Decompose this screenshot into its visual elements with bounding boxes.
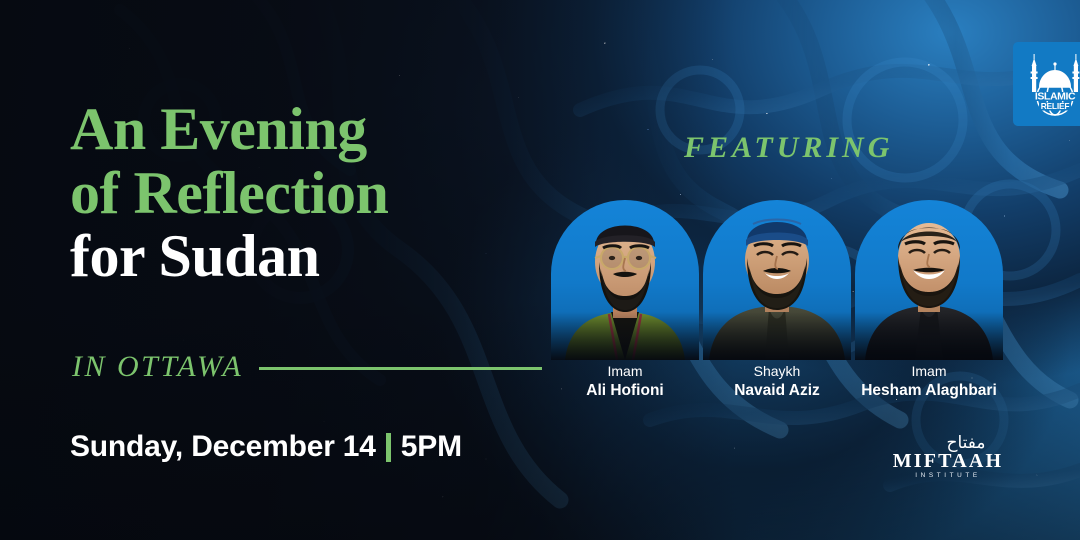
headline-line-1: An Evening bbox=[70, 98, 540, 162]
speaker-fullname: Navaid Aziz bbox=[703, 381, 851, 401]
miftaah-subtitle: INSTITUTE bbox=[915, 472, 980, 479]
speaker-arch-frame bbox=[855, 200, 1003, 360]
headline-line-3: for Sudan bbox=[70, 225, 540, 289]
speaker-portrait-hesham-alaghbari bbox=[855, 200, 1003, 360]
speaker-name-block: Imam Ali Hofioni bbox=[551, 363, 699, 401]
city-divider-rule bbox=[259, 367, 542, 370]
headline-line-2: of Reflection bbox=[70, 162, 540, 226]
miftaah-institute-logo[interactable]: مفتاح MIFTAAH INSTITUTE bbox=[888, 428, 1008, 482]
speaker-card: Imam Ali Hofioni bbox=[551, 200, 699, 400]
islamic-relief-wordmark-line2: RELIEF bbox=[1041, 101, 1070, 111]
city-row: IN OTTAWA bbox=[72, 350, 542, 384]
page-title: An Evening of Reflection for Sudan bbox=[70, 98, 540, 289]
event-banner: An Evening of Reflection for Sudan IN OT… bbox=[0, 0, 1080, 540]
speaker-arch-frame bbox=[703, 200, 851, 360]
speaker-portrait-navaid-aziz bbox=[703, 200, 851, 360]
event-date: Sunday, December 14 bbox=[70, 430, 376, 464]
city-label: IN OTTAWA bbox=[72, 350, 243, 384]
date-time-separator bbox=[386, 433, 391, 462]
miftaah-wordmark: MIFTAAH bbox=[893, 450, 1004, 472]
speaker-name-block: Imam Hesham Alaghbari bbox=[855, 363, 1003, 401]
event-time: 5PM bbox=[401, 430, 462, 464]
speaker-name-block: Shaykh Navaid Aziz bbox=[703, 363, 851, 401]
speaker-list: Imam Ali Hofioni bbox=[551, 200, 1003, 400]
islamic-relief-logo[interactable]: ISLAMIC RELIEF bbox=[1013, 42, 1080, 126]
event-datetime: Sunday, December 14 5PM bbox=[70, 430, 462, 464]
featuring-label: FEATURING bbox=[684, 131, 893, 165]
speaker-portrait-ali-hofioni bbox=[551, 200, 699, 360]
speaker-fullname: Hesham Alaghbari bbox=[855, 381, 1003, 401]
speaker-card: Shaykh Navaid Aziz bbox=[703, 200, 851, 400]
speaker-title: Shaykh bbox=[703, 363, 851, 381]
speaker-card: Imam Hesham Alaghbari bbox=[855, 200, 1003, 400]
speaker-arch-frame bbox=[551, 200, 699, 360]
speaker-title: Imam bbox=[551, 363, 699, 381]
speaker-fullname: Ali Hofioni bbox=[551, 381, 699, 401]
speaker-title: Imam bbox=[855, 363, 1003, 381]
